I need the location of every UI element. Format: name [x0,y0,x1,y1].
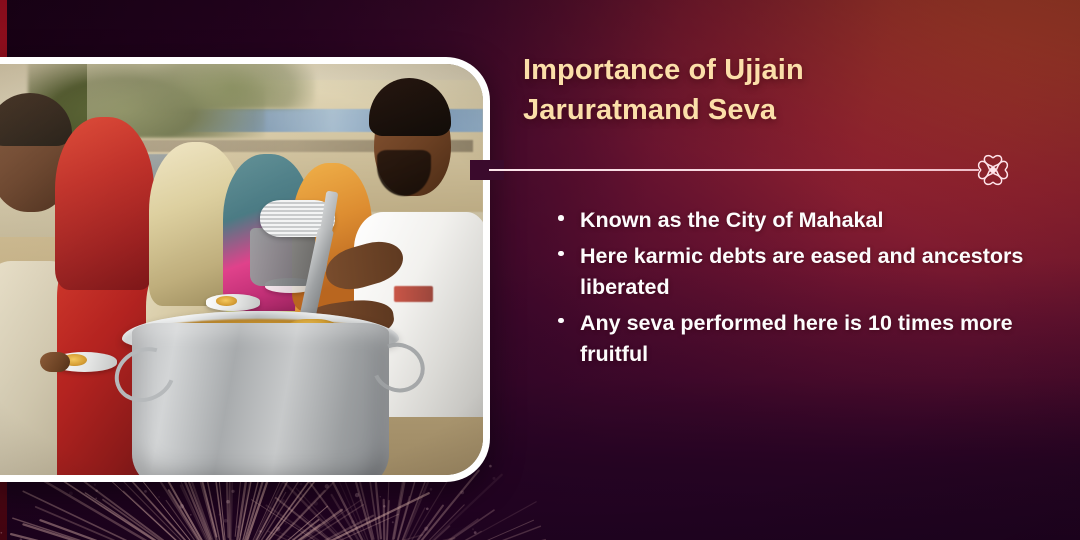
ornamental-knot-divider-icon [973,150,1013,190]
bullet-marker-icon [558,251,564,257]
content-column: Importance of Ujjain Jaruratmand Seva Kn… [523,0,1063,540]
bullet-list: Known as the City of Mahakal Here karmic… [535,205,1060,375]
photo-card [0,57,490,482]
seva-photograph [0,64,483,475]
slide-canvas: Importance of Ujjain Jaruratmand Seva Kn… [0,0,1080,540]
photo-frame-border [0,57,490,482]
list-item: Known as the City of Mahakal [535,205,1060,236]
list-item: Any seva performed here is 10 times more… [535,308,1060,370]
bullet-text: Here karmic debts are eased and ancestor… [580,244,1023,299]
page-title-line-2: Jaruratmand Seva [523,90,993,130]
bullet-text: Any seva performed here is 10 times more… [580,311,1013,366]
page-title: Importance of Ujjain Jaruratmand Seva [523,50,993,130]
bullet-text: Known as the City of Mahakal [580,208,883,232]
page-title-line-1: Importance of Ujjain [523,50,993,90]
bullet-marker-icon [558,318,564,324]
bullet-marker-icon [558,215,564,221]
list-item: Here karmic debts are eased and ancestor… [535,241,1060,303]
title-divider-rule [489,169,979,171]
photo-color-grade [0,64,483,475]
